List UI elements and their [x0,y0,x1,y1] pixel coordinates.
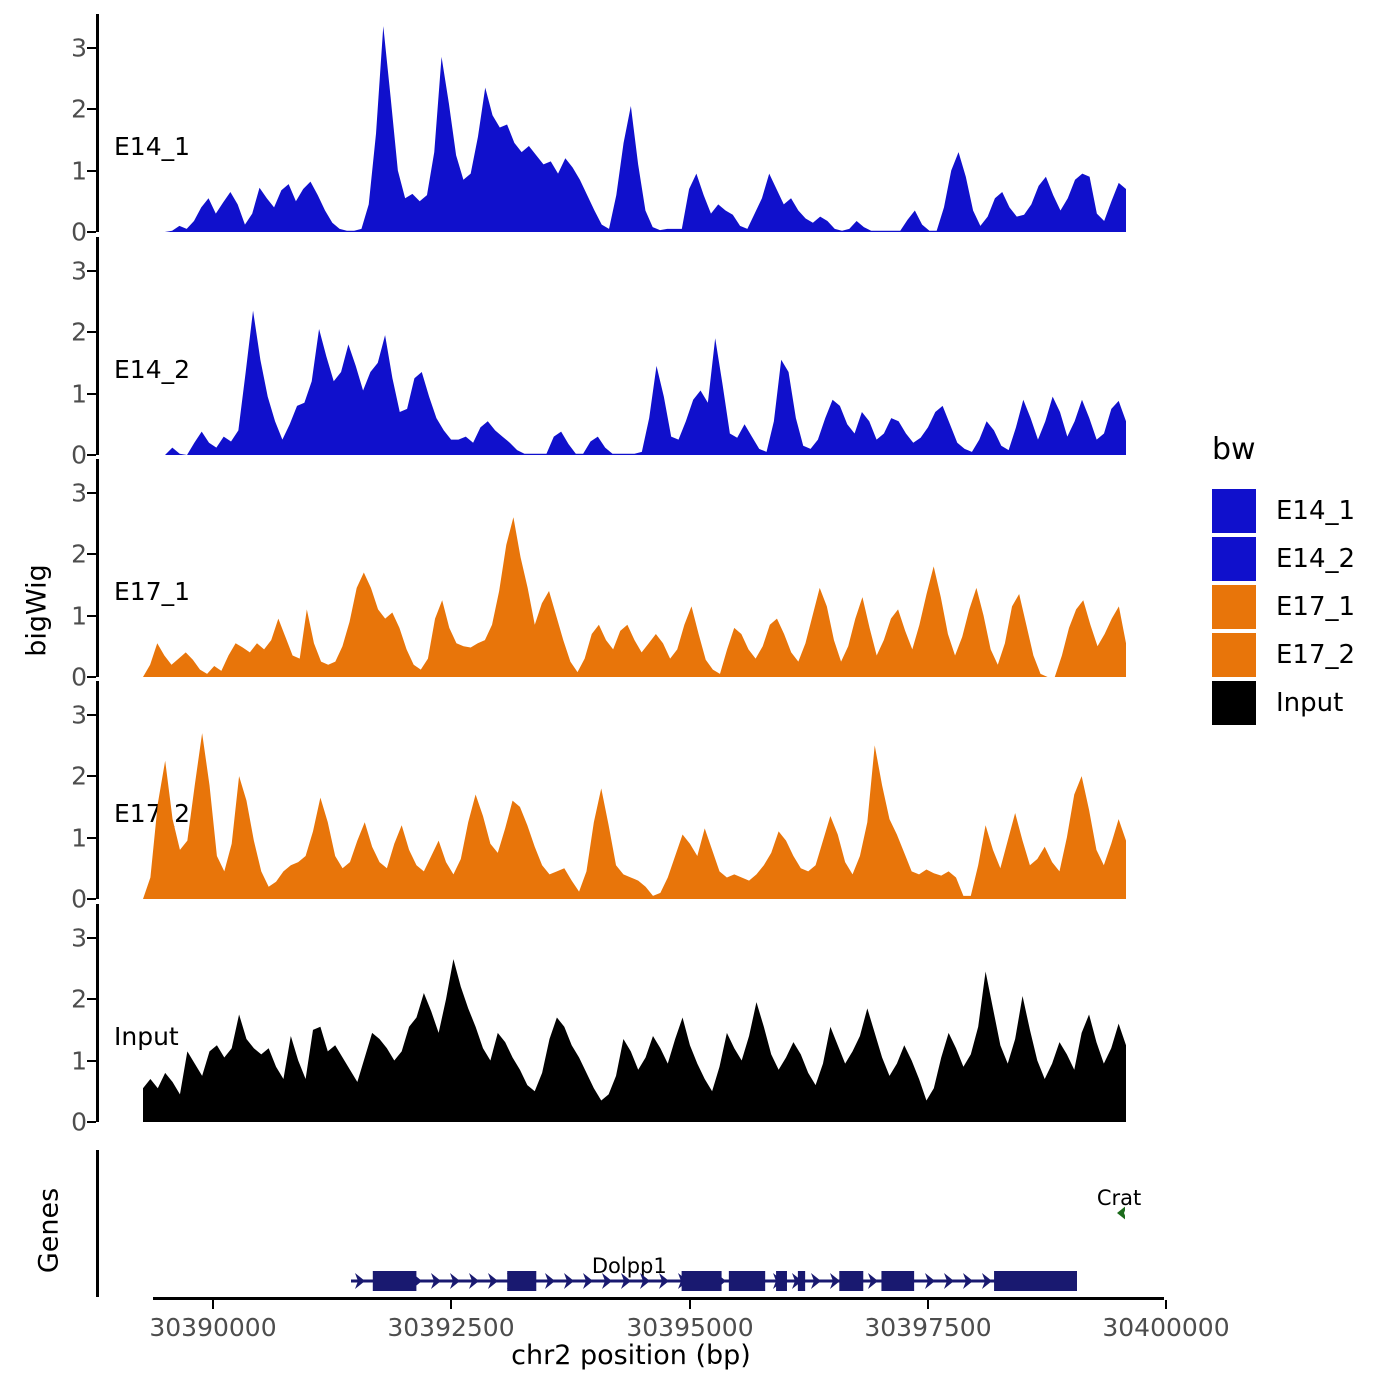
legend-swatch [1212,489,1256,533]
y-tick [87,615,96,617]
y-tick-label: 2 [71,95,87,124]
y-tick [87,898,96,900]
legend-label: E14_1 [1276,496,1355,526]
gene-exon [881,1271,914,1291]
figure-canvas: bigWig Genes chr2 position (bp) 0123E14_… [0,0,1400,1400]
gene-exon [507,1271,536,1291]
y-tick-label: 0 [71,885,87,914]
legend-item-e17_1[interactable]: E17_1 [1212,583,1392,631]
coverage-plot-area [99,20,1166,232]
x-tick [212,1300,214,1309]
legend-item-e14_2[interactable]: E14_2 [1212,535,1392,583]
y-tick [87,492,96,494]
bigwig-axis-title: bigWig [22,551,53,671]
track-panel-e17_2: 0123E17_2 [96,687,1166,899]
legend-item-input[interactable]: Input [1212,679,1392,727]
y-tick [87,47,96,49]
genes-axis-title: Genes [34,1176,65,1286]
gene-exon [839,1271,863,1291]
y-tick-label: 0 [71,441,87,470]
legend-items: E14_1E14_2E17_1E17_2Input [1212,487,1392,727]
track-panel-input: 0123Input [96,910,1166,1122]
legend-label: E17_2 [1276,640,1355,670]
strand-arrow-left [1117,1205,1125,1221]
x-axis-title: chr2 position (bp) [96,1340,1166,1371]
y-tick [87,998,96,1000]
y-tick [87,231,96,233]
legend-swatch [1212,537,1256,581]
gene-exon [681,1271,721,1291]
y-tick-label: 3 [71,700,87,729]
x-tick [1165,1300,1167,1309]
gene-glyph-dolpp1 [351,1269,1078,1293]
y-tick [87,393,96,395]
y-tick-label: 3 [71,923,87,952]
x-tick [927,1300,929,1309]
track-panel-e14_2: 0123E14_2 [96,243,1166,455]
legend-label: Input [1276,688,1343,718]
gene-exon [729,1271,765,1291]
y-tick [87,553,96,555]
gene-exon [798,1271,805,1291]
legend-swatch [1212,633,1256,677]
legend-label: E14_2 [1276,544,1355,574]
y-tick [87,937,96,939]
y-tick-label: 2 [71,762,87,791]
x-tick-label: 30400000 [1102,1313,1229,1342]
coverage-plot-area [99,910,1166,1122]
coverage-svg [99,910,1166,1122]
legend-swatch [1212,681,1256,725]
genes-track-panel: Dolpp1Crat [96,1150,1166,1297]
legend-swatch [1212,585,1256,629]
legend-title: bw [1212,432,1392,467]
gene-model-dolpp1[interactable] [351,1269,1078,1293]
y-tick-label: 1 [71,379,87,408]
y-tick-label: 0 [71,663,87,692]
coverage-area-input [143,959,1126,1122]
genes-axis-line [96,1150,99,1297]
coverage-area-e17_1 [143,517,1126,677]
track-panel-e17_1: 0123E17_1 [96,465,1166,677]
coverage-area-e14_2 [143,311,1126,455]
legend-item-e14_1[interactable]: E14_1 [1212,487,1392,535]
x-tick-label: 30392500 [387,1313,514,1342]
y-tick-label: 3 [71,33,87,62]
coverage-plot-area [99,465,1166,677]
x-tick [450,1300,452,1309]
coverage-svg [99,465,1166,677]
y-tick [87,676,96,678]
x-tick-label: 30397500 [864,1313,991,1342]
coverage-plot-area [99,243,1166,455]
coverage-area-e14_1 [143,26,1126,232]
legend-item-e17_2[interactable]: E17_2 [1212,631,1392,679]
y-tick [87,837,96,839]
x-axis-line [153,1297,1164,1300]
y-tick-label: 2 [71,318,87,347]
y-tick [87,775,96,777]
coverage-svg [99,20,1166,232]
coverage-svg [99,243,1166,455]
y-tick-label: 0 [71,218,87,247]
x-tick [689,1300,691,1309]
x-tick-label: 30395000 [626,1313,753,1342]
y-tick-label: 0 [71,1108,87,1137]
y-tick-label: 3 [71,256,87,285]
gene-model-crat[interactable] [1115,1201,1125,1225]
legend-label: E17_1 [1276,592,1355,622]
y-tick [87,1121,96,1123]
y-tick [87,108,96,110]
gene-exon [373,1271,417,1291]
y-tick [87,270,96,272]
coverage-plot-area [99,687,1166,899]
coverage-area-e17_2 [143,733,1126,899]
y-tick [87,454,96,456]
y-tick-label: 2 [71,985,87,1014]
legend: bw E14_1E14_2E17_1E17_2Input [1212,432,1392,727]
coverage-svg [99,687,1166,899]
x-tick-label: 30390000 [149,1313,276,1342]
y-tick-label: 1 [71,1046,87,1075]
track-panel-e14_1: 0123E14_1 [96,20,1166,232]
y-tick-label: 1 [71,601,87,630]
gene-exon [994,1271,1078,1291]
y-tick-label: 3 [71,478,87,507]
gene-glyph-crat [1115,1201,1125,1225]
y-tick [87,170,96,172]
y-tick-label: 2 [71,540,87,569]
y-tick-label: 1 [71,156,87,185]
y-tick [87,331,96,333]
y-tick-label: 1 [71,823,87,852]
gene-exon [776,1271,787,1291]
y-tick [87,714,96,716]
y-tick [87,1060,96,1062]
